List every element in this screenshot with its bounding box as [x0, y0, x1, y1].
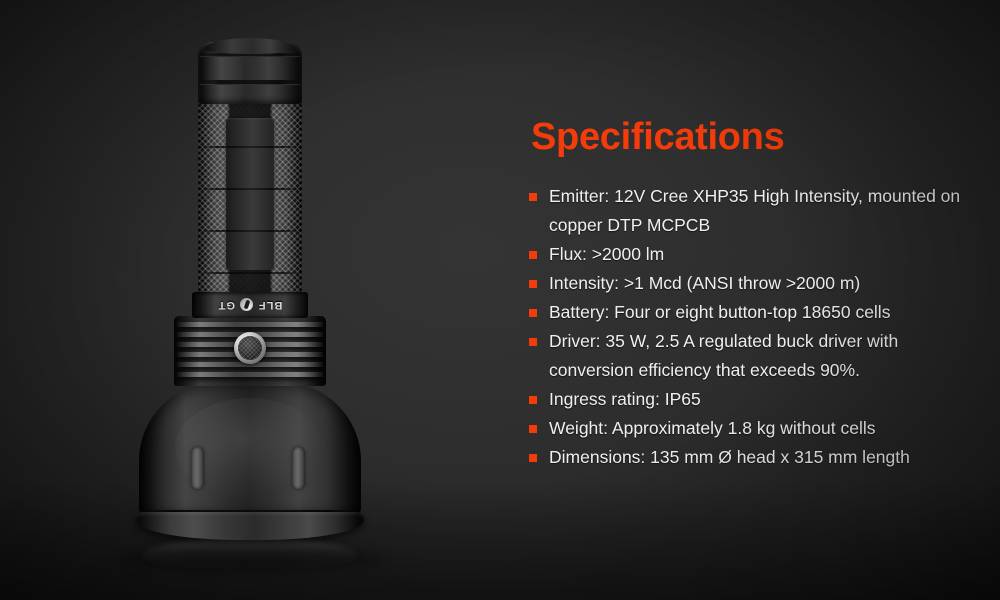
page-title: Specifications [531, 118, 984, 156]
spec-item-text: Flux: >2000 lm [549, 244, 664, 264]
spec-item-text: Ingress rating: IP65 [549, 389, 701, 409]
spec-list-item: Battery: Four or eight button-top 18650 … [529, 298, 984, 327]
knurl-band-line [198, 272, 302, 274]
square-bullet-icon [529, 338, 537, 346]
square-bullet-icon [529, 454, 537, 462]
knurl-band-line [198, 230, 302, 232]
square-bullet-icon [529, 280, 537, 288]
spec-list-item: Dimensions: 135 mm Ø head x 315 mm lengt… [529, 443, 984, 472]
spec-list-item: Driver: 35 W, 2.5 A regulated buck drive… [529, 327, 984, 385]
brand-text-gt: GT [218, 299, 235, 311]
spec-item-text: Dimensions: 135 mm Ø head x 315 mm lengt… [549, 447, 910, 467]
spec-list-item: Intensity: >1 Mcd (ANSI throw >2000 m) [529, 269, 984, 298]
spec-item-text: Driver: 35 W, 2.5 A regulated buck drive… [549, 331, 898, 380]
floor-reflection [143, 538, 357, 572]
blf-logo-icon [240, 299, 253, 312]
specifications-list: Emitter: 12V Cree XHP35 High Intensity, … [529, 182, 984, 472]
square-bullet-icon [529, 193, 537, 201]
spec-item-text: Emitter: 12V Cree XHP35 High Intensity, … [549, 186, 960, 235]
head-slot-left [191, 447, 204, 489]
brand-logo-band: BLF GT [192, 292, 308, 318]
bezel-seam-line [137, 510, 363, 512]
specifications-panel: Specifications Emitter: 12V Cree XHP35 H… [529, 118, 984, 472]
knurl-band-line [198, 146, 302, 148]
spec-item-text: Weight: Approximately 1.8 kg without cel… [549, 418, 876, 438]
square-bullet-icon [529, 396, 537, 404]
spec-list-item: Weight: Approximately 1.8 kg without cel… [529, 414, 984, 443]
product-spec-slide: BLF GT Specifications Emitter: 12V Cree … [0, 0, 1000, 600]
cooling-fin [177, 372, 323, 377]
head-slot-right [292, 447, 305, 489]
spec-list-item: Ingress rating: IP65 [529, 385, 984, 414]
square-bullet-icon [529, 251, 537, 259]
square-bullet-icon [529, 425, 537, 433]
spec-item-text: Intensity: >1 Mcd (ANSI throw >2000 m) [549, 273, 860, 293]
spec-list-item: Flux: >2000 lm [529, 240, 984, 269]
flashlight-bezel-ring [136, 512, 364, 540]
square-bullet-icon [529, 309, 537, 317]
spec-item-text: Battery: Four or eight button-top 18650 … [549, 302, 890, 322]
knurl-band-line [198, 188, 302, 190]
flashlight-head-cone [139, 382, 361, 518]
tailcap-top [204, 38, 296, 54]
flashlight-product-image: BLF GT [0, 0, 500, 600]
side-switch-button[interactable] [234, 332, 266, 364]
body-flat-panel [226, 118, 274, 270]
spec-list-item: Emitter: 12V Cree XHP35 High Intensity, … [529, 182, 984, 240]
brand-text-blf: BLF [258, 299, 282, 311]
cooling-fin [177, 322, 323, 327]
